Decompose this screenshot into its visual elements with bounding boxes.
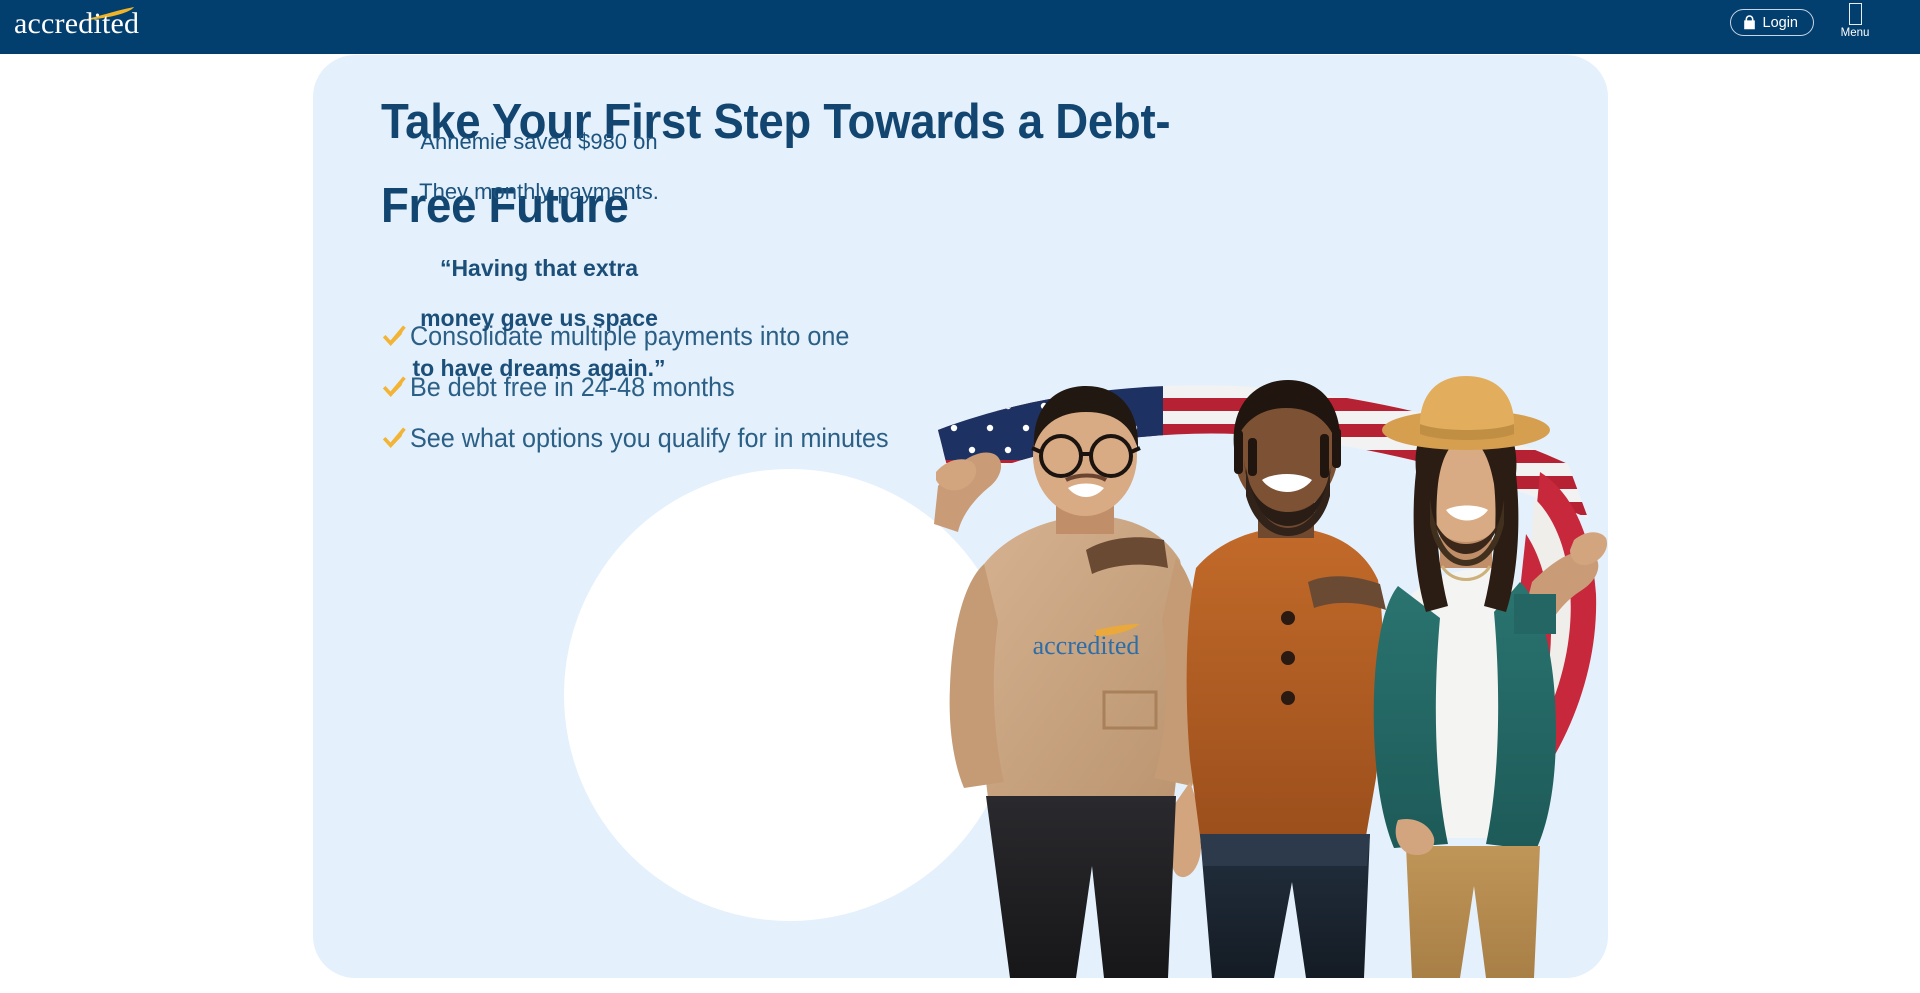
savings-line-2: They monthly payments. [419,167,659,217]
testimonial-circle [564,469,1016,921]
page-root: accredited Login Menu Take Your First St… [0,0,1920,993]
login-button-label: Login [1763,15,1798,31]
site-header: accredited Login Menu [0,0,1920,54]
lock-icon [1743,15,1756,30]
shirt-logo-text: accredited [1033,631,1140,660]
savings-line-1: Annemie saved $980 on [420,117,657,167]
brand-logo[interactable]: accredited [8,2,153,44]
missing-glyph-box-icon [1849,3,1862,25]
menu-button-label: Menu [1841,27,1870,40]
quote-line-1: “Having that extra [412,243,665,293]
menu-button[interactable]: Menu [1834,3,1876,40]
login-button[interactable]: Login [1730,9,1814,36]
testimonial-quote: “Having that extra money gave us space t… [412,243,665,393]
brand-logo-text: accredited [14,7,139,41]
hero-card: Take Your First Step Towards a Debt-Free… [313,55,1608,978]
quote-line-3: to have dreams again.” [412,343,665,393]
three-men-with-american-flag-image: accredited [928,368,1608,978]
testimonial: Annemie saved $980 on They monthly payme… [313,55,765,507]
quote-line-2: money gave us space [412,293,665,343]
header-actions: Login Menu [1730,0,1876,54]
hero-photo: accredited [928,368,1608,978]
